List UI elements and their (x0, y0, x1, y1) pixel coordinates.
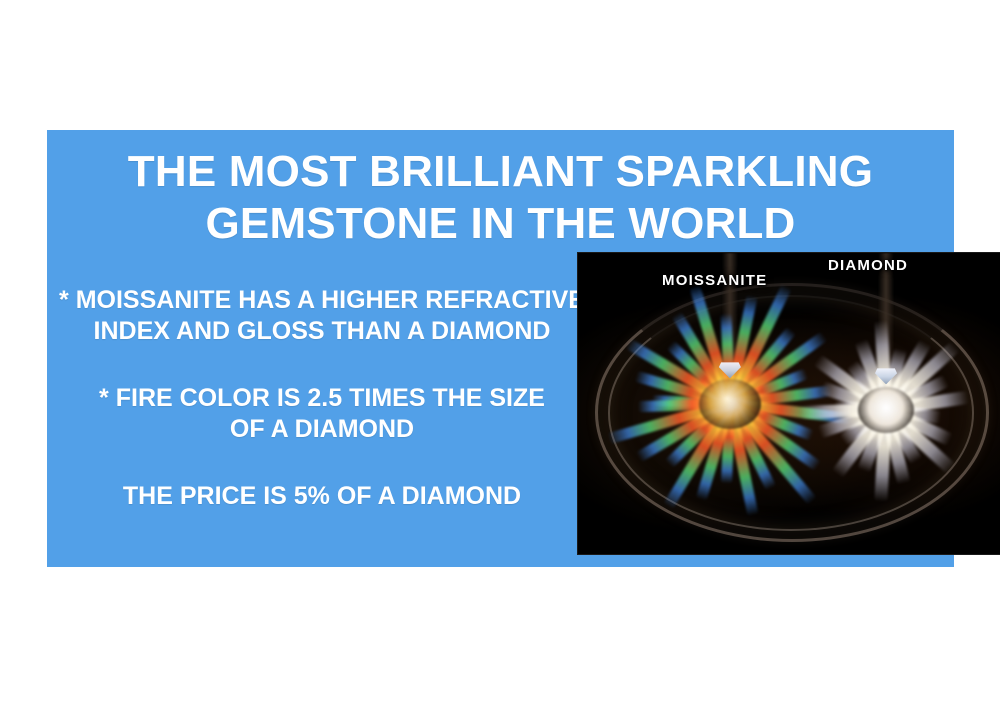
diamond-glow-core (858, 387, 914, 433)
title-line-2: GEMSTONE IN THE WORLD (47, 198, 954, 250)
bullet-1-line-1: * MOISSANITE HAS A HIGHER REFRACTIVE (57, 285, 587, 316)
bullet-2-line-1: * FIRE COLOR IS 2.5 TIMES THE SIZE (57, 383, 587, 414)
photo-label-diamond: DIAMOND (828, 257, 908, 274)
gemstone-comparison-photo: MOISSANITE DIAMOND (578, 253, 1000, 554)
bullet-item-3: THE PRICE IS 5% OF A DIAMOND (57, 481, 587, 512)
photo-label-moissanite: MOISSANITE (662, 272, 767, 289)
bullet-1-line-2: INDEX AND GLOSS THAN A DIAMOND (57, 316, 587, 347)
bullet-3-line-1: THE PRICE IS 5% OF A DIAMOND (57, 481, 587, 512)
bullet-item-2: * FIRE COLOR IS 2.5 TIMES THE SIZE OF A … (57, 383, 587, 445)
bullet-list: * MOISSANITE HAS A HIGHER REFRACTIVE IND… (57, 285, 587, 512)
title-line-1: THE MOST BRILLIANT SPARKLING (47, 146, 954, 198)
moissanite-glow-core (699, 379, 761, 429)
bullet-item-1: * MOISSANITE HAS A HIGHER REFRACTIVE IND… (57, 285, 587, 347)
slide-panel: THE MOST BRILLIANT SPARKLING GEMSTONE IN… (47, 130, 954, 567)
bullet-2-line-2: OF A DIAMOND (57, 414, 587, 445)
page-title: THE MOST BRILLIANT SPARKLING GEMSTONE IN… (47, 146, 954, 250)
photo-backdrop: MOISSANITE DIAMOND (578, 253, 1000, 554)
